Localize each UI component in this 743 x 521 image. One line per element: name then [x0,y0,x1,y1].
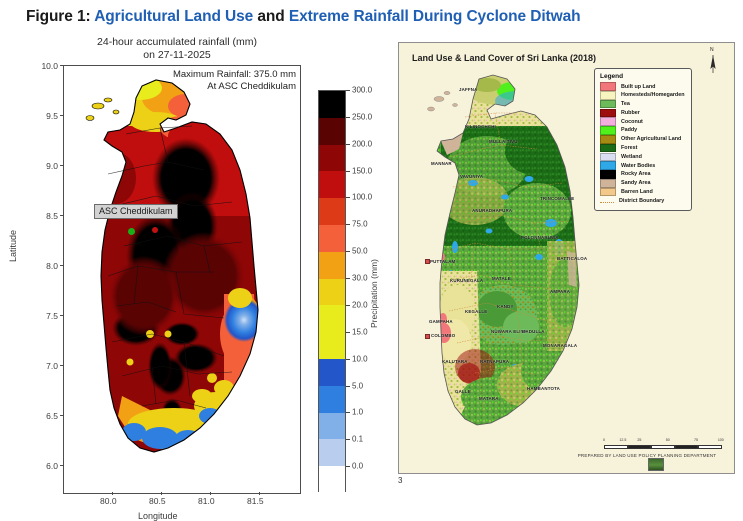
colorbar-tick-label: 15.0 [352,328,368,337]
colorbar-tick-label: 200.0 [352,140,372,149]
ytick-label: 9.5 [32,111,58,121]
colorbar-segment [319,225,345,252]
legend-label: Homesteds/Homegarden [621,92,685,98]
rainfall-contour-field [64,66,300,493]
rainfall-map-panel: 24-hour accumulated rainfall (mm) on 27-… [0,30,380,492]
legend-item: Built up Land [600,83,686,91]
legend-item: Paddy [600,126,686,134]
rainfall-plot-area: Maximum Rainfall: 375.0 mm At ASC Cheddi… [63,65,301,494]
max-rainfall-line2: At ASC Cheddikulam [173,81,296,93]
colorbar-segment [319,413,345,440]
colorbar-tick [346,466,350,467]
station-annotation-label: ASC Cheddikulam [94,204,178,219]
legend-item: Tea [600,100,686,108]
y-axis-label: Latitude [8,230,18,262]
scale-tick-label: 25 [637,438,641,442]
legend-item: Barren Land [600,188,686,196]
colorbar-tick-label: 50.0 [352,247,368,256]
legend-label: Water Bodies [621,163,655,169]
max-rainfall-line1: Maximum Rainfall: 375.0 mm [173,69,296,81]
colorbar-segment [319,252,345,279]
ytick-mark [60,115,63,116]
colorbar-tick [346,224,350,225]
scale-tick-label: 50 [666,438,670,442]
scale-bar-segment [628,445,652,449]
station-marker-red [152,227,158,233]
legend-swatch [600,82,616,91]
station-marker-green [128,228,135,235]
legend-swatch [600,170,616,179]
legend-item: Other Agricultural Land [600,135,686,143]
rainfall-title-line2: on 27-11-2025 [52,49,302,62]
precipitation-colorbar [318,90,346,492]
legend-swatch [600,188,616,197]
legend-swatch [600,117,616,126]
page-title: Figure 1: Agricultural Land Use and Extr… [26,8,580,26]
ytick-label: 8.0 [32,261,58,271]
ytick-label: 8.5 [32,211,58,221]
legend-label: Barren Land [621,189,653,195]
legend-label: Wetland [621,154,642,160]
ytick-mark [60,265,63,266]
colorbar-tick-label: 20.0 [352,301,368,310]
colorbar-axis-label: Precipitation (mm) [369,259,379,328]
colorbar-tick-label: 30.0 [352,274,368,283]
colorbar-tick-label: 0.1 [352,435,363,444]
colorbar-tick [346,439,350,440]
legend-item: Wetland [600,153,686,161]
colorbar-tick-label: 300.0 [352,86,372,95]
ytick-mark [60,365,63,366]
ytick-label: 7.0 [32,361,58,371]
legend-item: Homesteds/Homegarden [600,91,686,99]
department-logo [648,458,664,471]
legend-swatch [600,100,616,109]
north-arrow-icon: N [706,49,720,75]
ytick-mark [60,165,63,166]
scale-tick-label: 12.5 [619,438,626,442]
colorbar-segment [319,466,345,493]
legend-swatch [600,179,616,188]
ytick-mark [60,215,63,216]
legend-item: Water Bodies [600,162,686,170]
legend-item: Sandy Area [600,179,686,187]
colorbar-tick-label: 250.0 [352,113,372,122]
colorbar-segment [319,386,345,413]
colorbar-segment [319,359,345,386]
scale-bar-segment [651,445,675,449]
colorbar-tick [346,386,350,387]
xtick-label: 80.5 [149,496,166,506]
figure-title-part2: Extreme Rainfall During Cyclone Ditwah [289,8,581,25]
map-credit: PREPARED BY LAND USE POLICY PLANNING DEP… [572,453,722,458]
legend-swatch [600,135,616,144]
colorbar-segment [319,171,345,198]
xtick-label: 81.0 [198,496,215,506]
legend-label: District Boundary [619,198,664,204]
ytick-label: 10.0 [32,61,58,71]
legend-swatch [600,91,616,100]
scale-tick-label: 100 [718,438,724,442]
colorbar-tick [346,144,350,145]
figure-title-conjunction: and [253,8,289,25]
colorbar-tick-label: 5.0 [352,382,363,391]
colorbar-segment [319,118,345,145]
colorbar-tick [346,332,350,333]
north-arrow-letter: N [710,47,714,53]
colorbar-segment [319,198,345,225]
legend-swatch [600,202,614,203]
legend-label: Built up Land [621,84,655,90]
colorbar-tick-label: 100.0 [352,193,372,202]
legend-label: Tea [621,101,630,107]
figure-label: Figure 1: [26,8,91,25]
scale-tick-label: 75 [694,438,698,442]
ytick-label: 9.0 [32,161,58,171]
colorbar-tick [346,171,350,172]
colorbar-tick [346,197,350,198]
legend-item: Forest [600,144,686,152]
legend-item: Coconut [600,118,686,126]
legend-label: Coconut [621,119,643,125]
ytick-label: 7.5 [32,311,58,321]
scale-bar [604,445,722,449]
ytick-mark [60,465,63,466]
legend-label: Other Agricultural Land [621,136,681,142]
colorbar-segment [319,91,345,118]
ytick-mark [60,65,63,66]
legend-item: Rubber [600,109,686,117]
legend-label: Rocky Area [621,171,650,177]
scale-bar-segment [675,445,699,449]
colorbar-tick [346,90,350,91]
legend-label: Sandy Area [621,180,650,186]
legend-swatch [600,153,616,162]
legend-swatch [600,144,616,153]
xtick-label: 81.5 [247,496,264,506]
colorbar-segment [319,279,345,306]
legend-label: Paddy [621,127,637,133]
ytick-mark [60,315,63,316]
legend-swatch [600,126,616,135]
colorbar-tick-label: 10.0 [352,355,368,364]
colorbar-tick-label: 0.0 [352,462,363,471]
colorbar-tick-label: 75.0 [352,220,368,229]
colorbar-tick-label: 150.0 [352,167,372,176]
rainfall-title-line1: 24-hour accumulated rainfall (mm) [52,36,302,49]
figure-title-part1: Agricultural Land Use [94,8,253,25]
rainfall-chart-title: 24-hour accumulated rainfall (mm) on 27-… [52,36,302,62]
colorbar-tick [346,359,350,360]
ytick-mark [60,415,63,416]
colorbar-tick [346,412,350,413]
max-rainfall-note: Maximum Rainfall: 375.0 mm At ASC Cheddi… [173,69,296,93]
scale-bar-segment [698,445,722,449]
page-number: 3 [398,476,402,485]
scale-bar-ticks: 0 12.5 25 50 75 100 [604,438,722,444]
landuse-map-title: Land Use & Land Cover of Sri Lanka (2018… [412,53,596,63]
colorbar-tick [346,305,350,306]
ytick-label: 6.5 [32,411,58,421]
colorbar-tick-label: 1.0 [352,408,363,417]
scale-bar-segment [604,445,628,449]
landuse-map-panel: Land Use & Land Cover of Sri Lanka (2018… [398,42,735,474]
xtick-label: 80.0 [100,496,117,506]
colorbar-tick [346,278,350,279]
legend-swatch [600,161,616,170]
colorbar-segment [319,439,345,466]
legend-item: District Boundary [600,197,686,205]
scale-tick-label: 0 [603,438,605,442]
x-axis-label: Longitude [138,511,178,521]
legend-swatch [600,109,616,118]
legend-title: Legend [600,73,686,80]
colorbar-segment [319,305,345,359]
legend-label: Forest [621,145,637,151]
legend-label: Rubber [621,110,640,116]
ytick-label: 6.0 [32,461,58,471]
legend: Legend Built up Land Homesteds/Homegarde… [594,68,692,211]
colorbar-tick [346,251,350,252]
colorbar-segment [319,145,345,172]
colorbar-tick [346,117,350,118]
legend-item: Rocky Area [600,170,686,178]
